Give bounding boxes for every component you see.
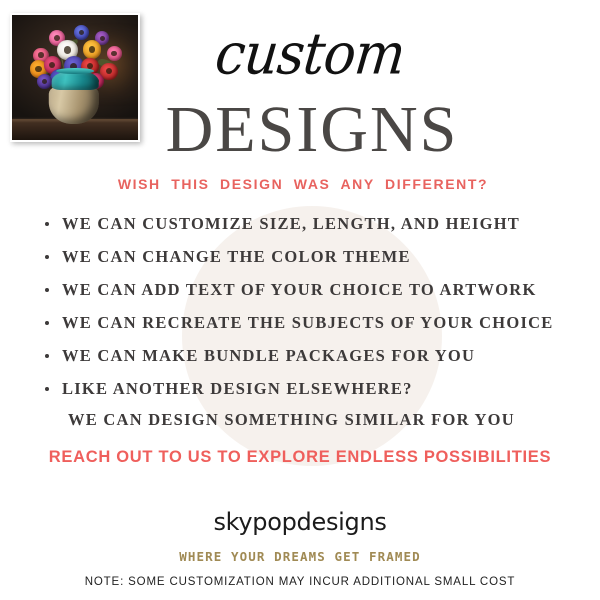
list-item: WE CAN ADD TEXT OF YOUR CHOICE TO ARTWOR… (44, 280, 574, 300)
list-item-label: WE CAN ADD TEXT OF YOUR CHOICE TO ARTWOR… (62, 280, 537, 299)
list-item-label: WE CAN DESIGN SOMETHING SIMILAR FOR YOU (68, 410, 515, 429)
bullet-icon (45, 354, 49, 358)
footer-note: NOTE: SOME CUSTOMIZATION MAY INCUR ADDIT… (0, 576, 600, 588)
page-subtitle: WISH THIS DESIGN WAS ANY DIFFERENT? (0, 176, 600, 192)
list-item-label: WE CAN RECREATE THE SUBJECTS OF YOUR CHO… (62, 313, 554, 332)
bullet-icon (45, 255, 49, 259)
call-to-action-text: REACH OUT TO US TO EXPLORE ENDLESS POSSI… (0, 448, 600, 467)
bullet-icon (45, 321, 49, 325)
bullet-icon (45, 222, 49, 226)
brand-name: skypopdesigns (0, 508, 600, 536)
list-item: WE CAN RECREATE THE SUBJECTS OF YOUR CHO… (44, 313, 574, 333)
list-item-continuation: WE CAN DESIGN SOMETHING SIMILAR FOR YOU (44, 410, 574, 430)
promo-poster: custom DESIGNS WISH THIS DESIGN WAS ANY … (0, 0, 600, 600)
feature-list: WE CAN CUSTOMIZE SIZE, LENGTH, AND HEIGH… (44, 214, 574, 443)
bullet-icon (45, 387, 49, 391)
list-item: WE CAN MAKE BUNDLE PACKAGES FOR YOU (44, 346, 574, 366)
brand-tagline: WHERE YOUR DREAMS GET FRAMED (0, 549, 600, 564)
list-item-label: WE CAN CHANGE THE COLOR THEME (62, 247, 411, 266)
page-title: DESIGNS (0, 97, 600, 163)
list-item: LIKE ANOTHER DESIGN ELSEWHERE? (44, 379, 574, 399)
list-item-label: WE CAN MAKE BUNDLE PACKAGES FOR YOU (62, 346, 475, 365)
bullet-icon (45, 288, 49, 292)
list-item-label: WE CAN CUSTOMIZE SIZE, LENGTH, AND HEIGH… (62, 214, 520, 233)
list-item-label: LIKE ANOTHER DESIGN ELSEWHERE? (62, 379, 413, 398)
script-headline: custom (0, 26, 600, 83)
list-item: WE CAN CUSTOMIZE SIZE, LENGTH, AND HEIGH… (44, 214, 574, 234)
list-item: WE CAN CHANGE THE COLOR THEME (44, 247, 574, 267)
